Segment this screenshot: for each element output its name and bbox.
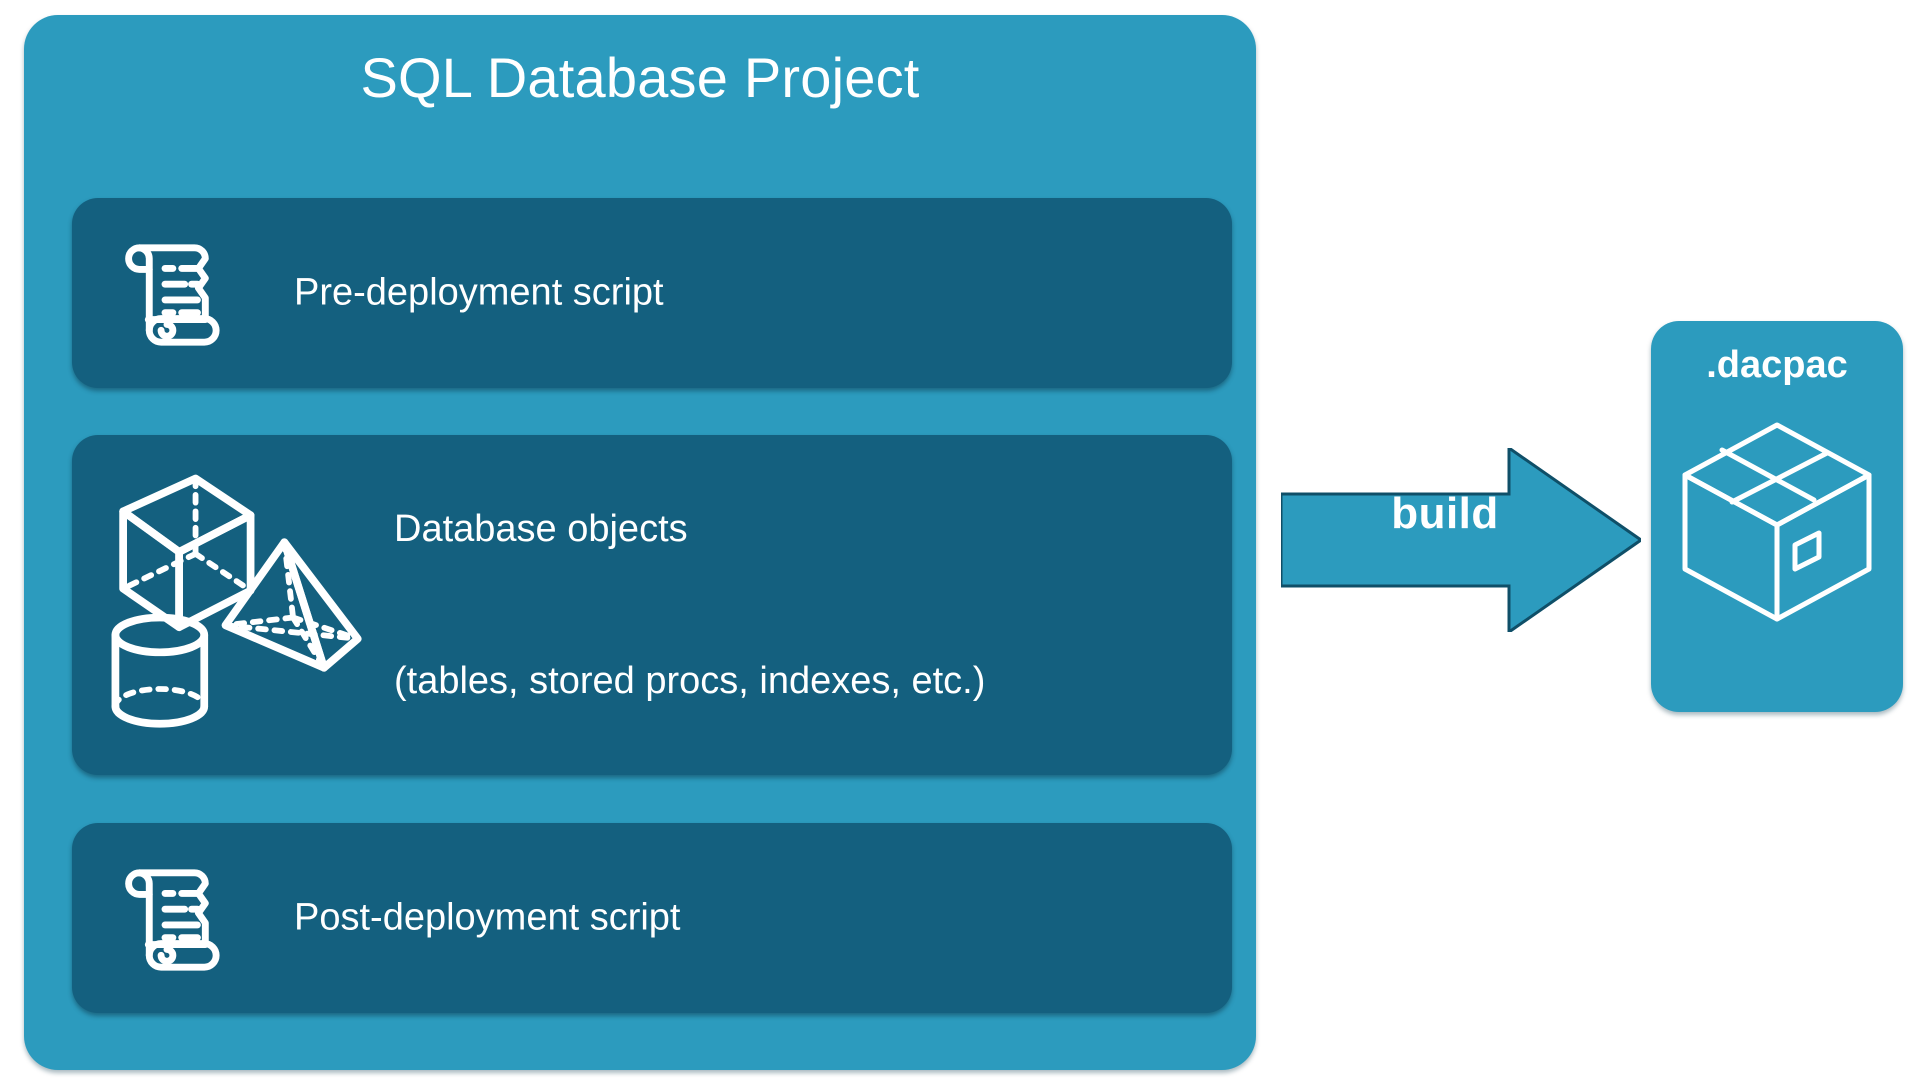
card-label-database-objects-line1: Database objects — [394, 504, 985, 555]
card-label-pre-deployment: Pre-deployment script — [294, 268, 664, 319]
scroll-icon — [100, 228, 230, 358]
card-post-deployment[interactable]: Post-deployment script — [72, 823, 1232, 1013]
build-arrow-label: build — [1330, 490, 1560, 538]
scroll-icon — [100, 853, 230, 983]
right-arrow-icon — [1281, 448, 1641, 632]
diagram-canvas: SQL Database Project — [0, 0, 1920, 1080]
page-title: SQL Database Project — [24, 47, 1256, 109]
dacpac-title: .dacpac — [1651, 345, 1903, 387]
three-d-shapes-icon — [94, 460, 384, 750]
card-pre-deployment[interactable]: Pre-deployment script — [72, 198, 1232, 388]
card-database-objects[interactable]: Database objects (tables, stored procs, … — [72, 435, 1232, 775]
card-label-database-objects: Database objects (tables, stored procs, … — [394, 403, 985, 807]
card-label-post-deployment: Post-deployment script — [294, 893, 681, 944]
card-label-database-objects-line2: (tables, stored procs, indexes, etc.) — [394, 656, 985, 707]
package-box-icon — [1677, 417, 1877, 627]
sql-database-project-panel: SQL Database Project — [24, 15, 1256, 1070]
dacpac-output-panel: .dacpac — [1651, 321, 1903, 712]
